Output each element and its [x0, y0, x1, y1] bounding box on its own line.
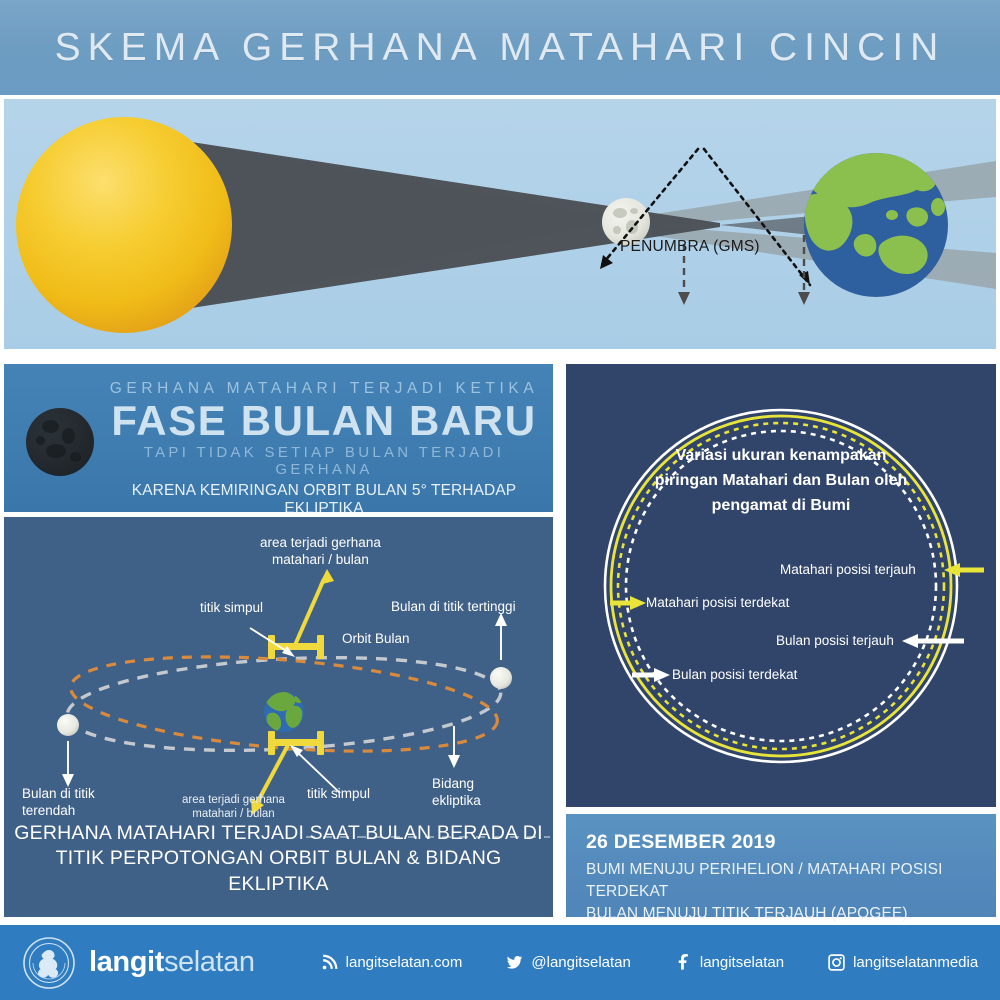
apparent-size-svg — [566, 364, 996, 807]
event-date-panel: 26 DESEMBER 2019 BUMI MENUJU PERIHELION … — [566, 814, 996, 917]
brand-name-light: selatan — [164, 946, 255, 978]
apparent-size-panel: Variasi ukuran kenampakan piringan Matah… — [566, 364, 996, 807]
new-moon-text-block: GERHANA MATAHARI TERJADI KETIKA FASE BUL… — [100, 380, 548, 512]
label-ecliptic-plane: Bidang ekliptika — [432, 775, 481, 809]
social-link-facebook[interactable]: langitselatan — [675, 954, 784, 971]
eclipse-area-arrowhead-upper — [319, 569, 334, 585]
penumbra-arrowhead-2 — [600, 255, 613, 269]
label-moon-farthest: Bulan posisi terjauh — [776, 633, 894, 648]
new-moon-icon — [26, 408, 94, 476]
label-node-lower: titik simpul — [307, 785, 370, 802]
social-link-instagram[interactable]: langitselatanmedia — [828, 954, 978, 971]
event-detail-apogee: BULAN MENUJU TITIK TERJAUH (APOGEE) — [586, 903, 996, 925]
label-eclipse-area-top: area terjadi gerhana matahari / bulan — [260, 534, 381, 568]
event-details: BUMI MENUJU PERIHELION / MATAHARI POSISI… — [586, 859, 996, 925]
label-node-upper: titik simpul — [200, 599, 263, 616]
apparent-size-title: Variasi ukuran kenampakan piringan Matah… — [608, 444, 954, 518]
label-moon-lowest: Bulan di titik terendah — [22, 785, 95, 819]
label-sun-nearest: Matahari posisi terdekat — [646, 595, 789, 610]
label-eclipse-area-bottom: area terjadi gerhana matahari / bulan — [182, 793, 285, 822]
label-penumbra: PENUMBRA (GMS) — [620, 238, 760, 256]
eclipse-geometry-diagram: PENUMBRA (GMS) UMBRA (GMT) ANTUMBRA (GMC… — [4, 99, 996, 349]
earth-globe — [801, 149, 948, 297]
social-link-website[interactable]: langitselatan.com — [321, 954, 463, 971]
facebook-icon — [675, 954, 692, 971]
social-links: langitselatan.com @langitselatan langits… — [321, 954, 979, 971]
new-moon-headline: FASE BULAN BARU — [100, 399, 548, 442]
ecliptic-plane-pointer-head — [448, 755, 460, 768]
brand-wordmark: langitselatan — [89, 946, 255, 979]
antumbra-arrowhead — [798, 292, 810, 305]
social-label-facebook: langitselatan — [700, 954, 784, 971]
new-moon-phase-panel: GERHANA MATAHARI TERJADI KETIKA FASE BUL… — [4, 364, 553, 512]
page-header: SKEMA GERHANA MATAHARI CINCIN — [0, 0, 1000, 95]
new-moon-kicker: GERHANA MATAHARI TERJADI KETIKA — [100, 380, 548, 398]
lunar-orbit-panel: area terjadi gerhana matahari / bulan ti… — [4, 517, 553, 917]
event-detail-perihelion: BUMI MENUJU PERIHELION / MATAHARI POSISI… — [586, 859, 996, 903]
label-moon-highest: Bulan di titik tertinggi — [391, 598, 516, 615]
social-link-twitter[interactable]: @langitselatan — [506, 954, 630, 971]
eclipse-diagram-svg — [4, 99, 996, 349]
label-sun-farthest: Matahari posisi terjauh — [780, 562, 916, 577]
page-title: SKEMA GERHANA MATAHARI CINCIN — [55, 26, 946, 70]
label-moon-nearest: Bulan posisi terdekat — [672, 667, 797, 682]
moon-marker-high — [490, 667, 512, 689]
social-label-twitter: @langitselatan — [531, 954, 630, 971]
langitselatan-seal-logo — [22, 936, 76, 990]
social-label-website: langitselatan.com — [346, 954, 463, 971]
instagram-icon — [828, 954, 845, 971]
brand-name-bold: langit — [89, 946, 164, 978]
brand-block[interactable]: langitselatan — [22, 936, 255, 990]
rss-icon — [321, 954, 338, 971]
social-label-instagram: langitselatanmedia — [853, 954, 978, 971]
new-moon-subline: TAPI TIDAK SETIAP BULAN TERJADI GERHANA — [100, 444, 548, 478]
moon-marker-low — [57, 714, 79, 736]
umbra-arrowhead — [678, 292, 690, 305]
twitter-icon — [506, 954, 523, 971]
label-moon-orbit: Orbit Bulan — [342, 630, 410, 647]
sun-sphere — [16, 117, 232, 333]
new-moon-note: KARENA KEMIRINGAN ORBIT BULAN 5° TERHADA… — [100, 482, 548, 512]
infographic-page: SKEMA GERHANA MATAHARI CINCIN — [0, 0, 1000, 1000]
site-footer: langitselatan langitselatan.com @langits… — [0, 925, 1000, 1000]
event-date: 26 DESEMBER 2019 — [586, 831, 996, 854]
orbit-panel-caption: GERHANA MATAHARI TERJADI SAAT BULAN BERA… — [4, 821, 553, 897]
earth-small-globe — [264, 691, 304, 732]
